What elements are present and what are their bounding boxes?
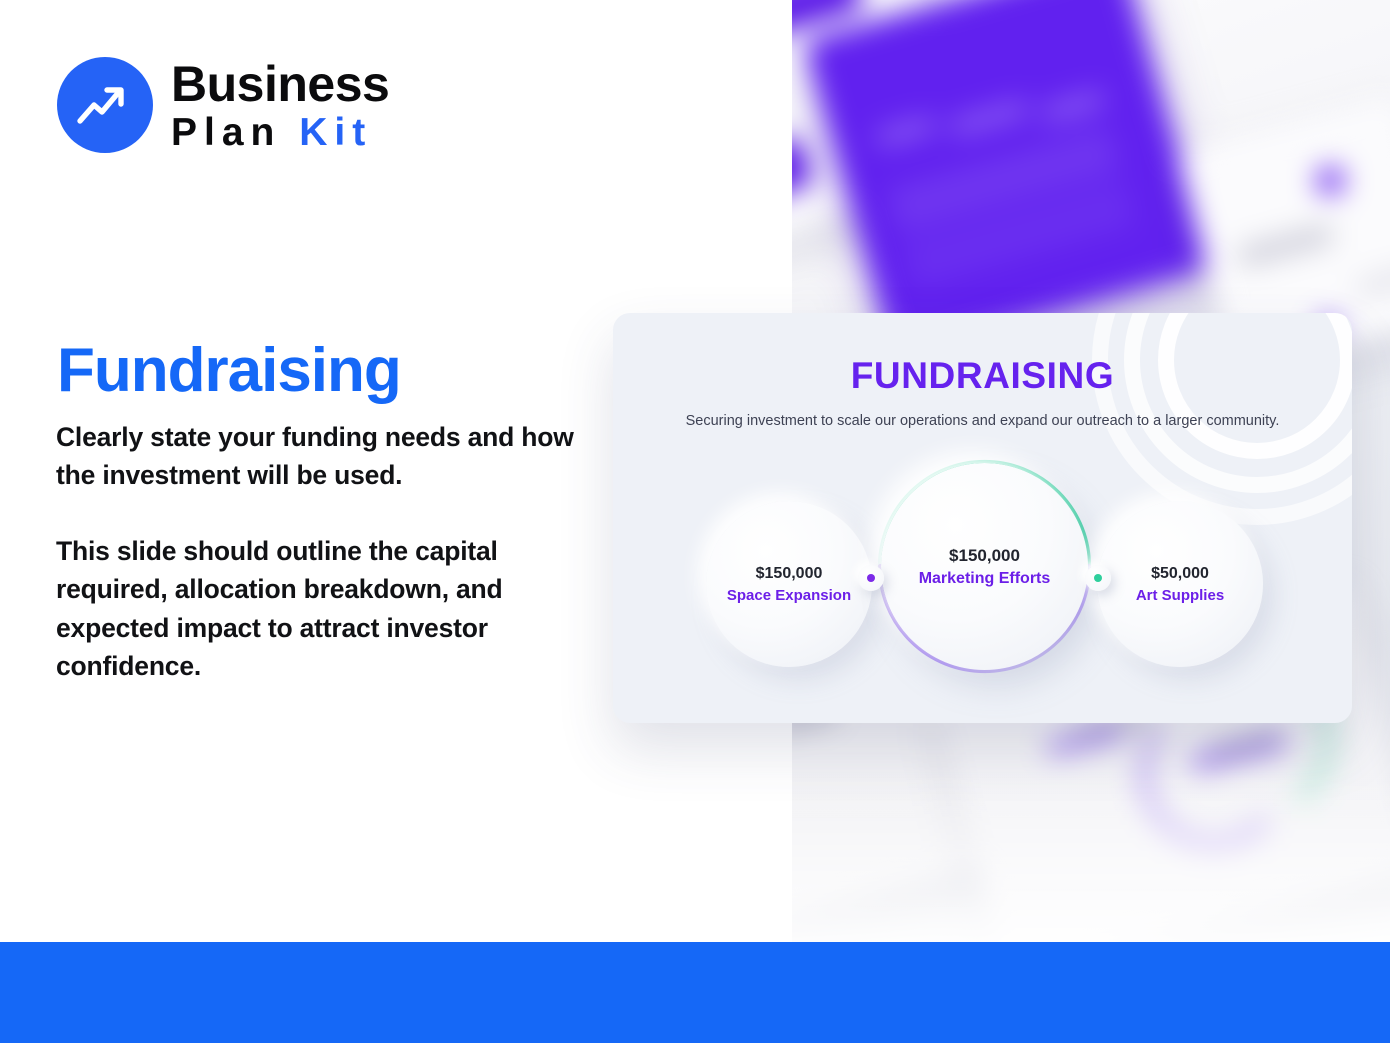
growth-chart-arrow-icon [57,57,153,153]
footer-bar [0,942,1390,1043]
allocation-label: Marketing Efforts [919,570,1051,588]
preview-title: FUNDRAISING [613,355,1352,397]
connector-dot-green [1085,565,1111,591]
allocation-node-marketing-efforts[interactable]: $150,000 Marketing Efforts [881,463,1088,670]
brand-logo: Business Plan Kit [57,57,389,153]
allocation-label: Space Expansion [727,587,851,604]
backdrop-fade [792,772,1390,942]
allocation-amount: $150,000 [756,565,823,583]
slide-preview-card[interactable]: FUNDRAISING Securing investment to scale… [613,313,1352,723]
allocation-node-space-expansion[interactable]: $150,000 Space Expansion [706,501,872,667]
page-title: Fundraising [57,338,401,403]
allocation-label: Art Supplies [1136,587,1224,604]
brand-line-2: Plan Kit [171,113,389,152]
brand-line-1: Business [171,59,389,109]
allocation-amount: $50,000 [1151,565,1209,583]
brand-line-2-accent: Kit [299,111,372,154]
body-paragraph: Clearly state your funding needs and how… [56,418,586,494]
allocation-node-art-supplies[interactable]: $50,000 Art Supplies [1097,501,1263,667]
body-paragraph: This slide should outline the capital re… [56,532,586,685]
allocation-diagram: $150,000 Space Expansion $150,000 Market… [613,463,1352,708]
body-copy: Clearly state your funding needs and how… [56,418,586,685]
background-slide [803,0,1211,359]
brand-wordmark: Business Plan Kit [171,59,389,152]
slide-canvas: Business Plan Kit Fundraising Clearly st… [0,0,1390,1043]
brand-line-2-plain: Plan [171,111,281,154]
preview-subtitle: Securing investment to scale our operati… [613,411,1352,432]
allocation-amount: $150,000 [949,546,1020,566]
connector-dot-purple [858,565,884,591]
